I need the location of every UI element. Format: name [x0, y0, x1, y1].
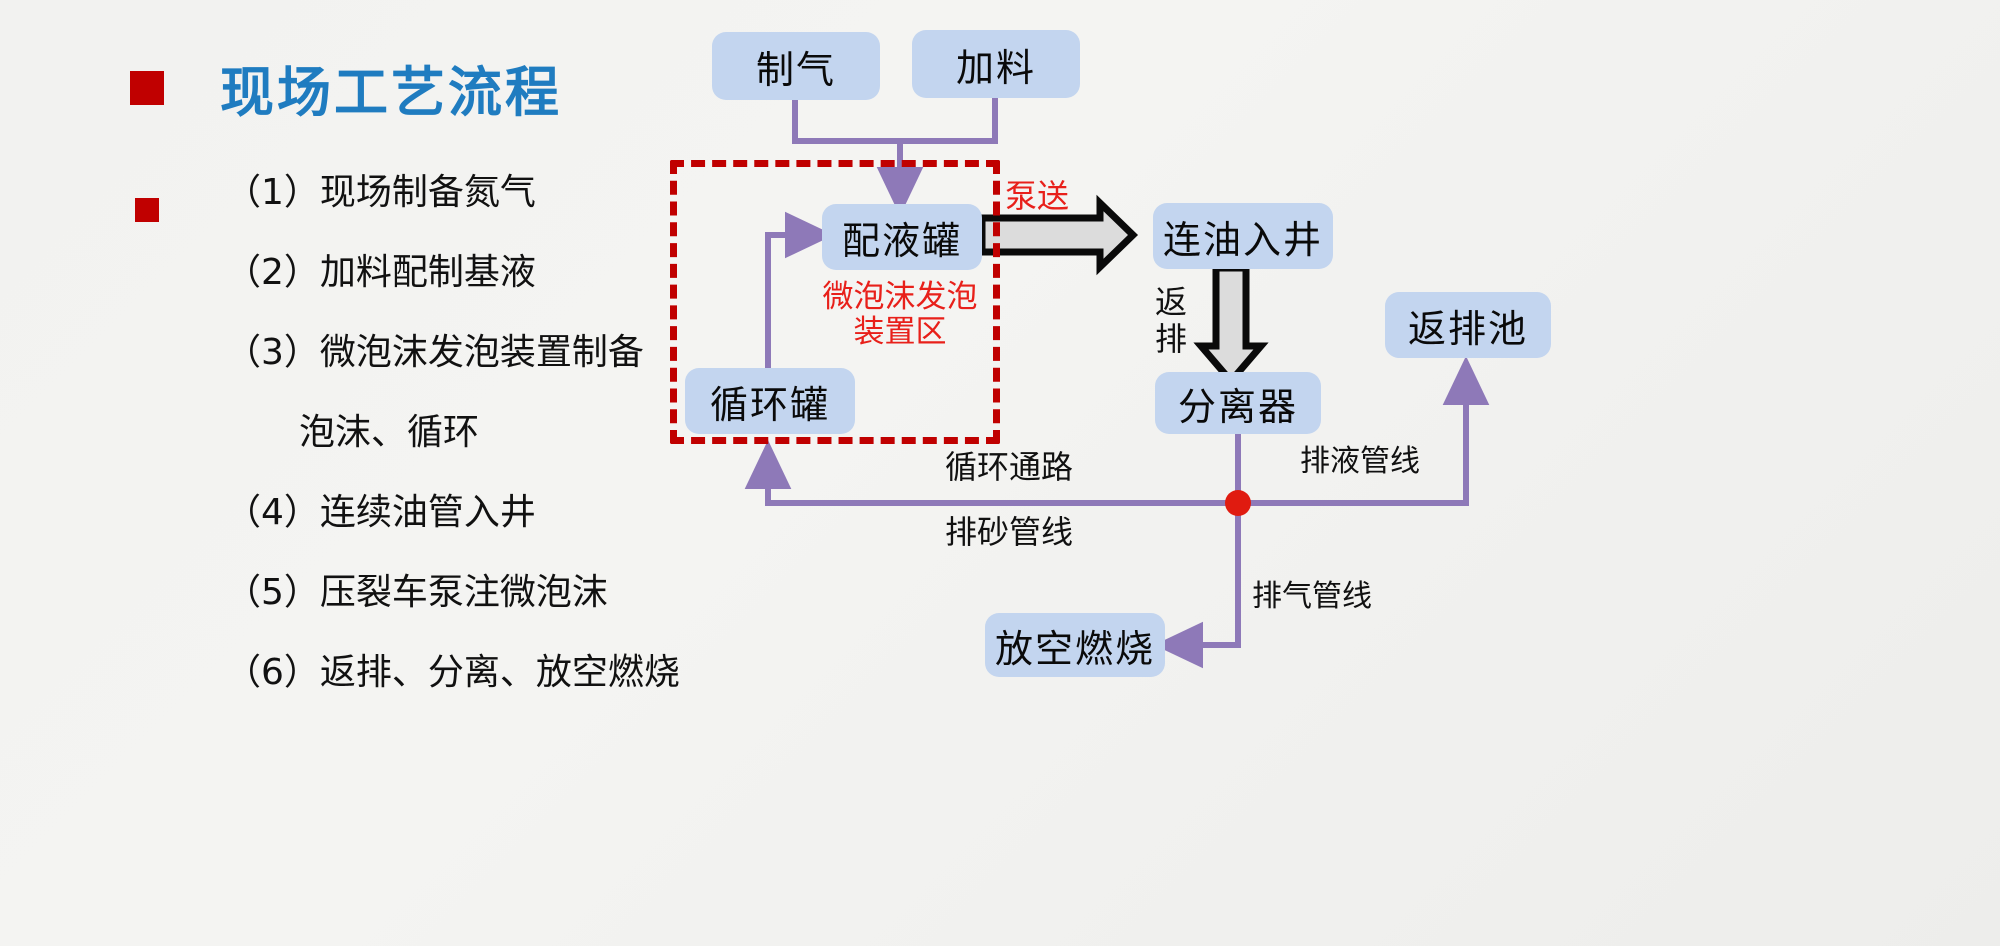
- label-sand-discharge-line: 排砂管线: [945, 515, 1073, 551]
- process-flow-diagram: 制气 加料 配液罐 循环罐 连油入井 分离器 返排池 放空燃烧 泵送 微泡沫发泡…: [600, 0, 2000, 946]
- label-pump-delivery: 泵送: [1005, 179, 1069, 215]
- node-flare-burning[interactable]: 放空燃烧: [985, 613, 1165, 677]
- label-flowback-line2: 排: [1148, 321, 1194, 358]
- title-bullet-icon: [130, 71, 164, 105]
- label-gas-discharge-line: 排气管线: [1252, 580, 1372, 614]
- label-foam-zone-line2: 装置区: [800, 315, 1000, 350]
- node-gas-generation[interactable]: 制气: [712, 32, 880, 100]
- label-flowback: 返 排: [1148, 284, 1194, 358]
- node-mixing-tank[interactable]: 配液罐: [822, 204, 982, 270]
- node-circulation-tank[interactable]: 循环罐: [685, 368, 855, 434]
- label-flowback-line1: 返: [1148, 284, 1194, 321]
- label-foam-zone: 微泡沫发泡 装置区: [800, 280, 1000, 349]
- page-title: 现场工艺流程: [220, 48, 562, 127]
- slide-title-row: 现场工艺流程: [130, 48, 562, 127]
- list-bullet-icon: [135, 198, 159, 222]
- node-separator[interactable]: 分离器: [1155, 372, 1321, 434]
- node-flowback-pit[interactable]: 返排池: [1385, 292, 1551, 358]
- node-coiled-tubing-run-in[interactable]: 连油入井: [1153, 203, 1333, 269]
- label-circulation-path: 循环通路: [945, 450, 1073, 486]
- flowback-block-arrow: [1201, 268, 1261, 381]
- label-liquid-discharge-line: 排液管线: [1300, 445, 1420, 479]
- node-feeding[interactable]: 加料: [912, 30, 1080, 98]
- slide-root: 现场工艺流程 （1）现场制备氮气 （2）加料配制基液 （3）微泡沫发泡装置制备 …: [0, 0, 2000, 946]
- pipeline-junction-dot: [1225, 490, 1251, 516]
- label-foam-zone-line1: 微泡沫发泡: [800, 280, 1000, 315]
